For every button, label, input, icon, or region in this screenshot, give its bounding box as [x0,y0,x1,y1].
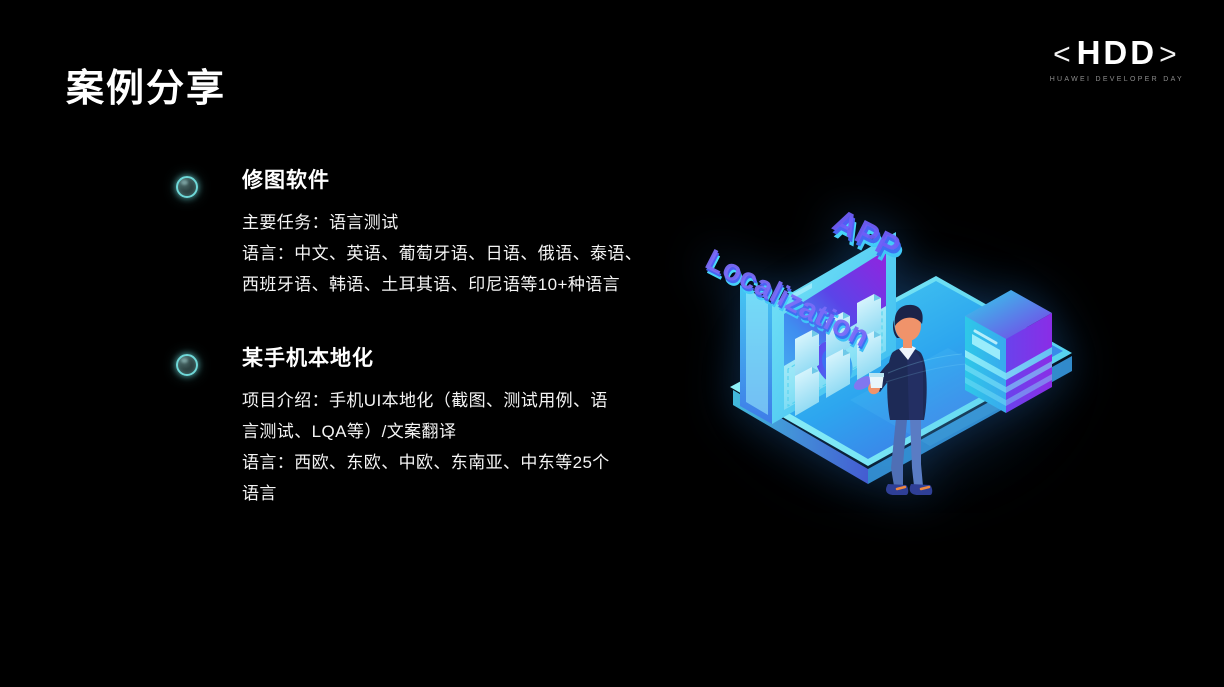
item-body: 项目介绍：手机UI本地化（截图、测试用例、语 言测试、LQA等）/文案翻译 语言… [242,385,692,509]
page-title: 案例分享 [66,68,226,112]
logo-subtitle: HUAWEI DEVELOPER DAY [1050,76,1184,83]
item-line: 语言 [242,478,692,509]
item-line: 言测试、LQA等）/文案翻译 [242,416,692,447]
item-line: 语言：中文、英语、葡萄牙语、日语、俄语、泰语、 [242,238,692,269]
list-item: 某手机本地化 项目介绍：手机UI本地化（截图、测试用例、语 言测试、LQA等）/… [172,346,692,509]
list-item: 修图软件 主要任务：语言测试 语言：中文、英语、葡萄牙语、日语、俄语、泰语、 西… [172,168,692,300]
content-list: 修图软件 主要任务：语言测试 语言：中文、英语、葡萄牙语、日语、俄语、泰语、 西… [172,168,692,509]
item-title: 修图软件 [242,168,692,193]
item-line: 项目介绍：手机UI本地化（截图、测试用例、语 [242,385,692,416]
illustration-glow: Localization Localization Localization A… [700,168,1100,513]
item-body: 主要任务：语言测试 语言：中文、英语、葡萄牙语、日语、俄语、泰语、 西班牙语、韩… [242,207,692,300]
bullet-circle-icon [176,354,198,376]
item-line: 语言：西欧、东欧、中欧、东南亚、中东等25个 [242,447,692,478]
logo-wordmark: <HDD> [1050,36,1184,70]
item-line: 主要任务：语言测试 [242,207,692,238]
bullet-circle-icon [176,176,198,198]
app-localization-illustration: Localization Localization Localization A… [700,168,1100,513]
item-line: 西班牙语、韩语、土耳其语、印尼语等10+种语言 [242,269,692,300]
slide-root: <HDD> HUAWEI DEVELOPER DAY 案例分享 修图软件 主要任… [0,0,1224,687]
hdd-logo: <HDD> HUAWEI DEVELOPER DAY [1050,36,1184,83]
logo-left-bracket: < [1051,38,1077,71]
logo-right-bracket: > [1157,38,1183,71]
logo-word: HDD [1077,34,1158,71]
item-title: 某手机本地化 [242,346,692,371]
